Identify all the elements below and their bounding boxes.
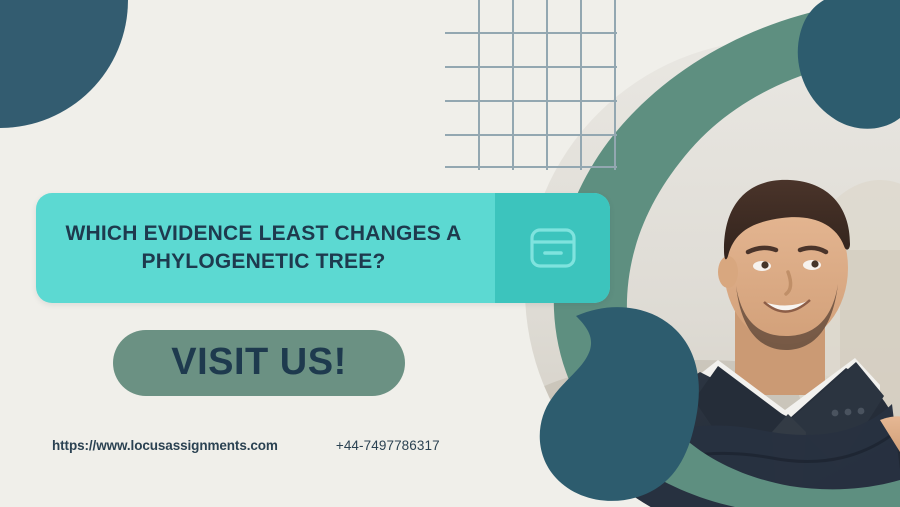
footer-contact: https://www.locusassignments.com +44-749… [52, 438, 440, 453]
top-blob-decor [798, 0, 900, 129]
grid-pattern-decor [445, 0, 617, 170]
visit-us-label: Visit Us! [171, 343, 347, 384]
grid-line-h [445, 134, 617, 136]
grid-line-v [546, 0, 548, 170]
grid-line-v [580, 0, 582, 170]
grid-line-h [445, 32, 617, 34]
grid-line-v [478, 0, 480, 170]
promo-banner: Which evidence least changes a phylogene… [0, 0, 900, 507]
bottom-blob-decor [540, 307, 699, 501]
grid-line-v [614, 0, 616, 170]
corner-circle-decor [0, 0, 128, 128]
card-window-icon [527, 222, 579, 274]
visit-us-button[interactable]: Visit Us! [113, 330, 405, 396]
headline-banner: Which evidence least changes a phylogene… [36, 193, 610, 303]
website-url[interactable]: https://www.locusassignments.com [52, 438, 278, 453]
headline-text-container: Which evidence least changes a phylogene… [36, 193, 495, 303]
grid-line-h [445, 166, 617, 168]
phone-number[interactable]: +44-7497786317 [336, 438, 440, 453]
headline-icon-panel [495, 193, 610, 303]
grid-line-v [512, 0, 514, 170]
grid-line-h [445, 100, 617, 102]
grid-line-h [445, 66, 617, 68]
page-title: Which evidence least changes a phylogene… [49, 220, 479, 277]
